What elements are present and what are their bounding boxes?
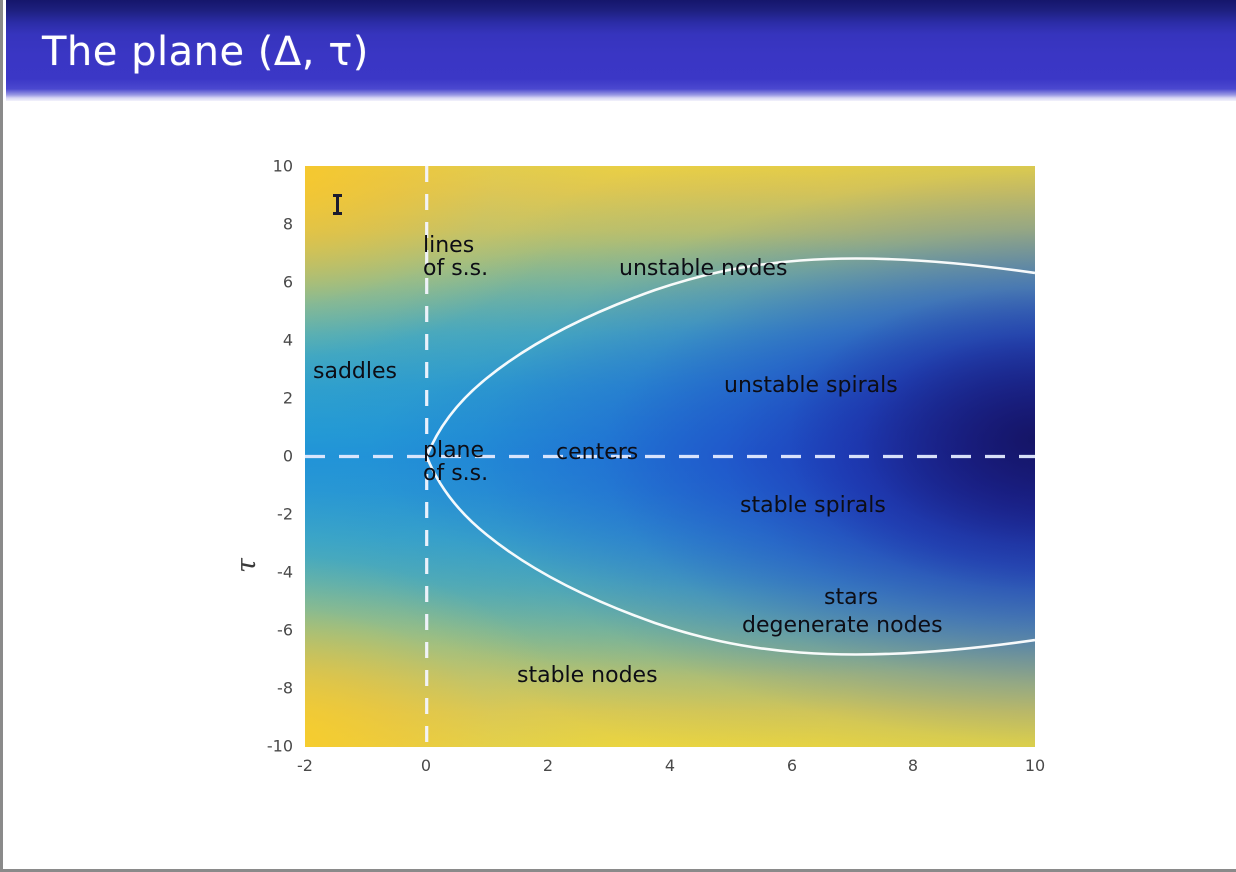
phase-plane-plot: lines of s.s. unstable nodes saddles pla… — [305, 166, 1035, 747]
text-ibeam-cursor — [333, 194, 342, 215]
region-label-saddles-upper: saddles — [313, 360, 397, 383]
y-tick-label: -6 — [253, 621, 293, 640]
presentation-slide: The plane (Δ, τ) τ Δ 10 8 6 4 2 0 -2 -4 … — [0, 0, 1236, 872]
y-tick-label: 0 — [253, 447, 293, 466]
region-label-line1: plane — [423, 438, 484, 463]
discriminant-parabola-lower — [427, 457, 1035, 655]
cursor-bottom-serif — [333, 212, 342, 215]
region-label-line2: of s.s. — [423, 461, 488, 486]
x-tick-label: 8 — [908, 756, 918, 775]
region-label-unstable-nodes: unstable nodes — [619, 257, 787, 280]
x-tick-label: 0 — [421, 756, 431, 775]
y-tick-label: -10 — [253, 737, 293, 756]
region-label-stable-spirals: stable spirals — [740, 494, 886, 517]
x-tick-label: 6 — [787, 756, 797, 775]
y-tick-label: 4 — [253, 331, 293, 350]
region-label-line1: lines — [423, 233, 474, 258]
region-label-line2: of s.s. — [423, 256, 488, 281]
y-tick-label: -2 — [253, 505, 293, 524]
y-tick-label: 6 — [253, 273, 293, 292]
y-tick-label: 2 — [253, 389, 293, 408]
y-tick-label: -4 — [253, 563, 293, 582]
region-label-stars: stars — [824, 586, 878, 609]
y-tick-label: -8 — [253, 679, 293, 698]
discriminant-parabola-upper — [427, 258, 1035, 456]
plot-curves-svg — [305, 166, 1035, 747]
slide-title-bar: The plane (Δ, τ) — [6, 0, 1236, 101]
x-tick-label: 4 — [665, 756, 675, 775]
figure-container: τ Δ 10 8 6 4 2 0 -2 -4 -6 -8 -10 -2 0 2 … — [3, 101, 1236, 872]
y-tick-label: 10 — [253, 157, 293, 176]
cursor-stem — [336, 196, 339, 213]
x-tick-label: 10 — [1025, 756, 1045, 775]
region-label-unstable-spirals: unstable spirals — [724, 374, 898, 397]
x-tick-label: 2 — [543, 756, 553, 775]
y-tick-label: 8 — [253, 215, 293, 234]
region-label-centers: centers — [556, 441, 638, 464]
region-label-stable-nodes: stable nodes — [517, 664, 658, 687]
region-label-degenerate-nodes: degenerate nodes — [742, 614, 943, 637]
page-title: The plane (Δ, τ) — [42, 29, 369, 75]
x-tick-label: -2 — [297, 756, 313, 775]
